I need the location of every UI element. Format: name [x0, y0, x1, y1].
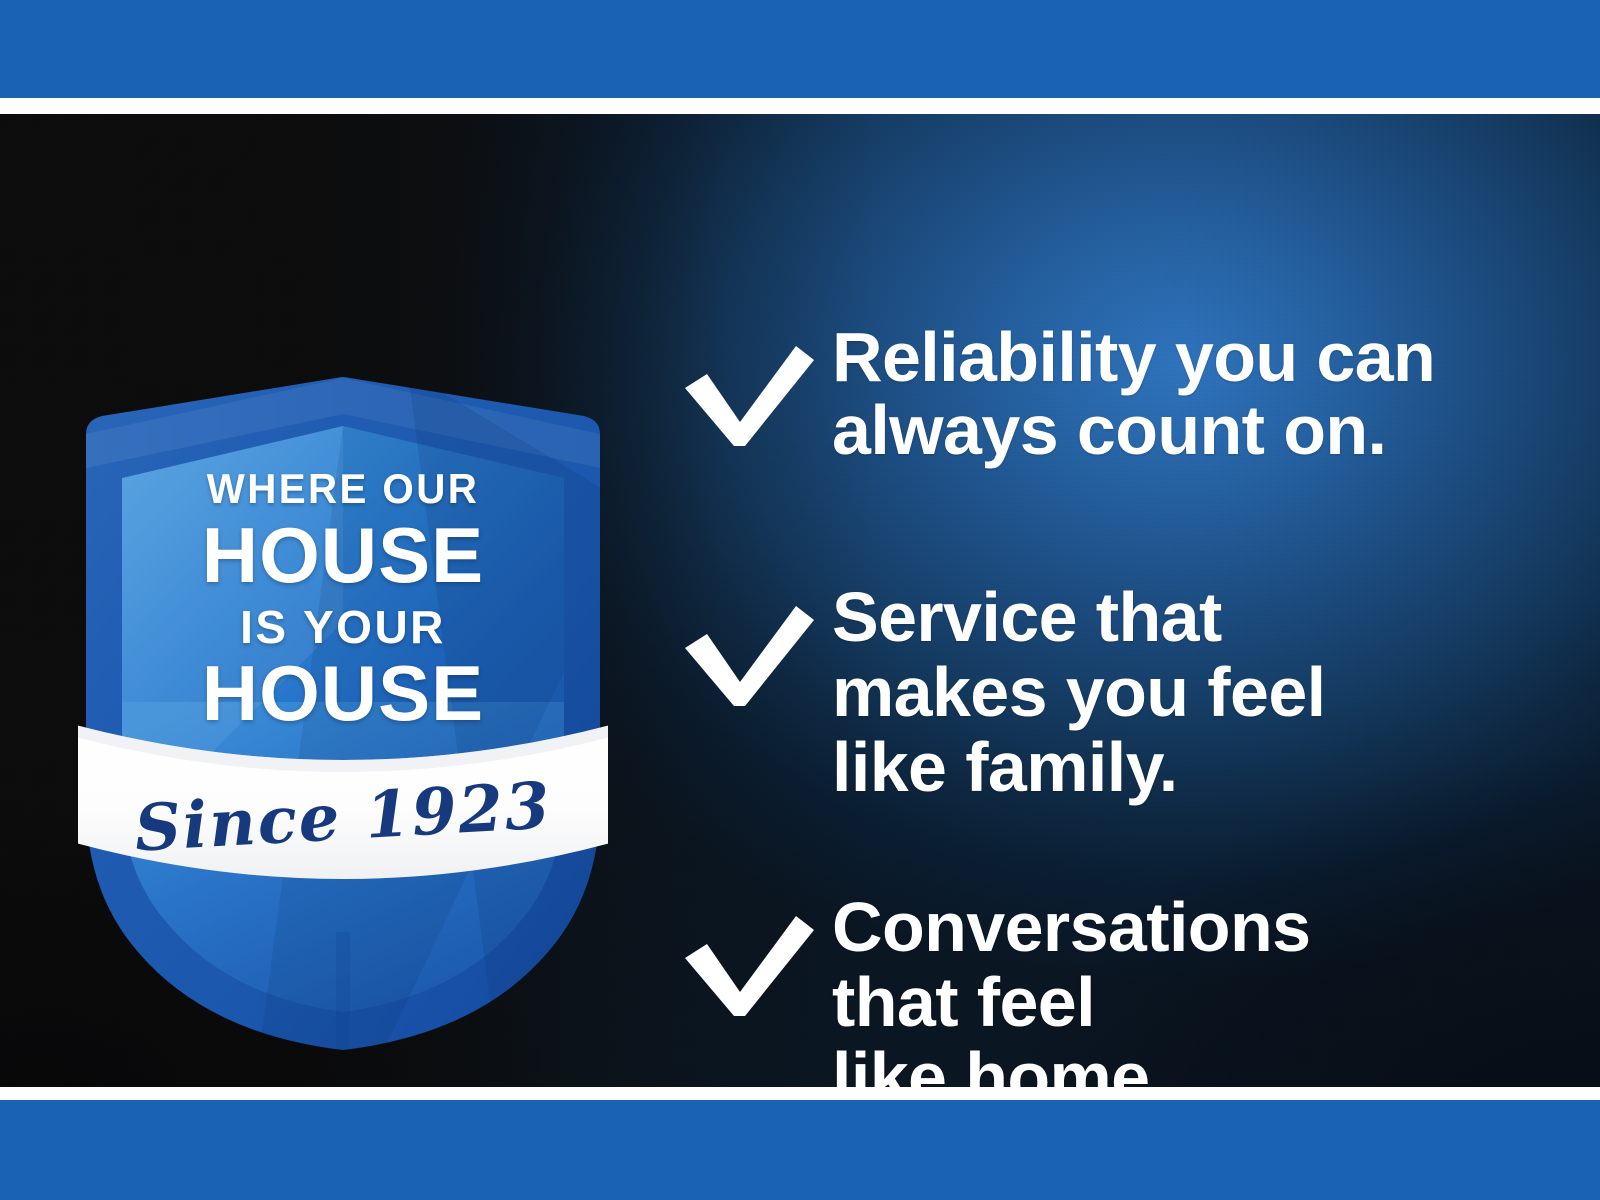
top-brand-bar [0, 0, 1600, 98]
benefit-text-1: Reliability you can always count on. [832, 322, 1568, 468]
benefit-2-line-2: makes you feel [832, 657, 1568, 727]
benefit-item-3: Conversations that feel like home. [668, 892, 1568, 1087]
shield-center-crease [336, 932, 350, 1062]
benefit-text-3: Conversations that feel like home. [832, 892, 1568, 1087]
check-icon [668, 326, 818, 456]
promo-graphic-canvas: WHERE OUR HOUSE IS YOUR HOUSE Since 1923… [0, 0, 1600, 1200]
benefit-3-line-2: that feel [832, 967, 1568, 1037]
check-icon [668, 896, 818, 1026]
bottom-brand-bar [0, 1100, 1600, 1200]
benefit-1-line-2: always count on. [832, 395, 1568, 465]
shield-badge: WHERE OUR HOUSE IS YOUR HOUSE Since 1923 [78, 372, 608, 1062]
benefit-text-2: Service that makes you feel like family. [832, 582, 1568, 807]
top-white-divider [0, 98, 1600, 114]
shield-icon [78, 372, 608, 1062]
benefit-1-line-1: Reliability you can [832, 322, 1568, 392]
benefit-3-line-1: Conversations [832, 892, 1568, 962]
benefit-item-1: Reliability you can always count on. [668, 322, 1568, 468]
benefit-2-line-3: like family. [832, 732, 1568, 802]
main-panel: WHERE OUR HOUSE IS YOUR HOUSE Since 1923… [0, 114, 1600, 1087]
check-icon [668, 586, 818, 716]
benefit-3-line-3: like home. [832, 1042, 1568, 1087]
bottom-white-divider [0, 1087, 1600, 1100]
benefit-2-line-1: Service that [832, 582, 1568, 652]
benefit-item-2: Service that makes you feel like family. [668, 582, 1568, 807]
